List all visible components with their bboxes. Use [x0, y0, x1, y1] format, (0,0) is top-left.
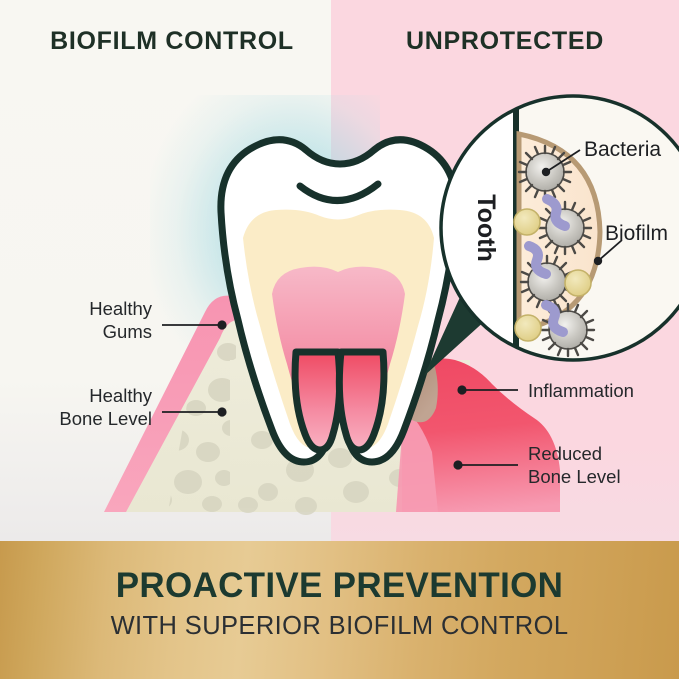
- root-canal-left: [295, 352, 340, 450]
- root-canal-right: [339, 352, 384, 450]
- callout-healthy-gums: Healthy Gums: [14, 297, 152, 343]
- lens-bacteria-label: Bacteria: [584, 138, 661, 161]
- lens-tooth-label: Tooth: [472, 194, 500, 262]
- banner-content: PROACTIVE PREVENTION WITH SUPERIOR BIOFI…: [0, 565, 679, 641]
- magnifier-lens: Tooth Bacteria Biofilm: [441, 96, 679, 360]
- banner-title: PROACTIVE PREVENTION: [0, 565, 679, 607]
- callout-reduced-bone-level: Reduced Bone Level: [528, 442, 678, 488]
- callout-healthy-bone-level: Healthy Bone Level: [4, 384, 152, 430]
- banner-subtitle: WITH SUPERIOR BIOFILM CONTROL: [0, 611, 679, 641]
- infographic-root: BIOFILM CONTROL UNPROTECTED: [0, 0, 679, 679]
- gold-banner: PROACTIVE PREVENTION WITH SUPERIOR BIOFI…: [0, 541, 679, 679]
- lens-biofilm-label: Biofilm: [605, 222, 668, 245]
- callout-inflammation: Inflammation: [528, 379, 678, 402]
